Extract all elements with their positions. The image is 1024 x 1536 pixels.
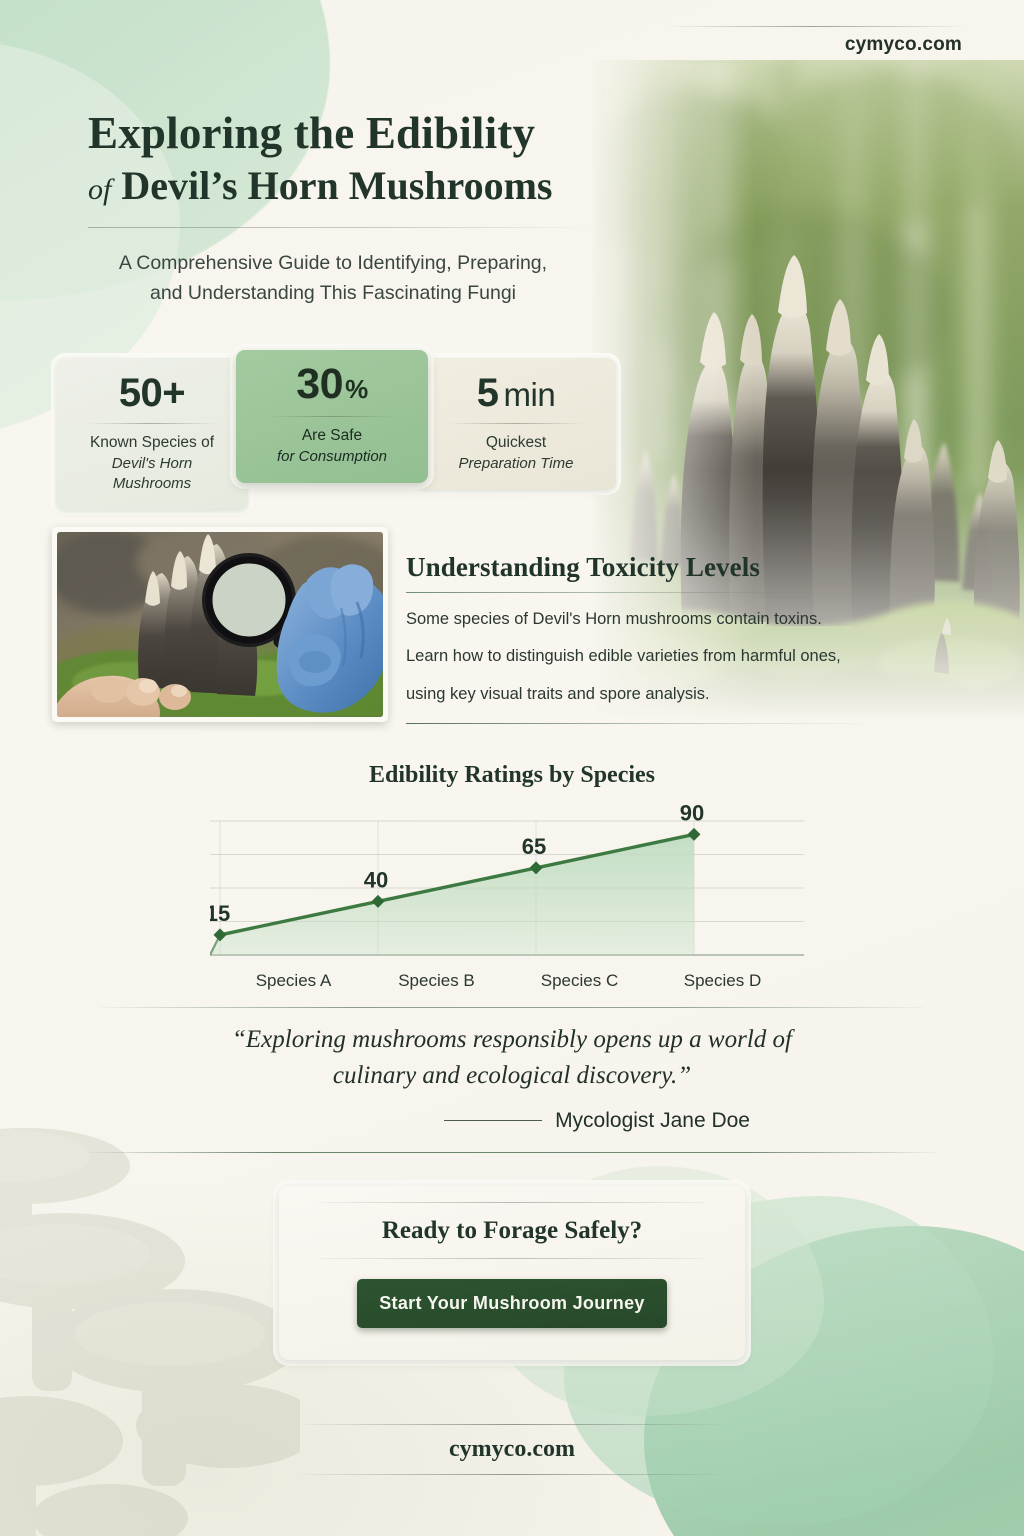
chart-data-label: 40 — [364, 867, 388, 892]
chart-title: Edibility Ratings by Species — [100, 762, 924, 789]
chart-category-label: Species D — [651, 971, 794, 991]
stat-unit-safe: % — [345, 374, 368, 404]
infographic-page: cymyco.com — [0, 0, 1024, 1536]
stat-cards-row: 50+ Known Species of Devil's Horn Mushro… — [56, 350, 616, 510]
toxicity-paragraph-1: Some species of Devil's Horn mushrooms c… — [406, 609, 876, 630]
page-subtitle-line2: and Understanding This Fascinating Fungi — [88, 278, 578, 308]
toxicity-heading: Understanding Toxicity Levels — [406, 552, 876, 583]
chart-area-fill — [220, 834, 694, 955]
stat-label-line2-safe-consumption: for Consumption — [254, 447, 410, 467]
chart-section-divider — [100, 1007, 924, 1008]
title-divider — [88, 227, 593, 228]
chart-category-label: Species C — [508, 971, 651, 991]
chart-plot-area: 15406590 — [100, 805, 924, 965]
toxicity-heading-divider — [406, 592, 858, 593]
title-block: Exploring the Edibility of Devil’s Horn … — [88, 110, 608, 309]
footer-rule-bottom — [300, 1474, 724, 1475]
stat-value-safe-consumption: 30% — [254, 362, 410, 407]
stat-card-known-species[interactable]: 50+ Known Species of Devil's Horn Mushro… — [56, 358, 248, 510]
quote-block: “Exploring mushrooms responsibly opens u… — [112, 1022, 912, 1133]
toxicity-body: Some species of Devil's Horn mushrooms c… — [406, 609, 876, 705]
stat-label-line2-known-species: Devil's Horn Mushrooms — [74, 454, 230, 495]
stat-value-known-species: 50+ — [74, 372, 230, 414]
stat-label-line1-prep-time: Quickest — [434, 433, 598, 454]
cta-divider-top — [319, 1202, 705, 1203]
stat-unit-prep: min — [504, 376, 556, 413]
stat-divider — [268, 416, 396, 417]
footer-brand-text: cymyco.com — [300, 1425, 724, 1474]
chart-data-label: 65 — [522, 834, 546, 859]
footer-brand: cymyco.com — [300, 1424, 724, 1475]
page-title-subject: Devil’s Horn Mushrooms — [121, 163, 552, 208]
toxicity-inspection-image — [52, 527, 388, 722]
stat-number-safe: 30 — [296, 360, 343, 408]
chart-section: Edibility Ratings by Species 15406590 Sp… — [100, 762, 924, 1008]
chart-category-labels: Species ASpecies BSpecies CSpecies D — [100, 971, 924, 991]
chart-data-label: 90 — [680, 805, 704, 825]
stat-number-prep: 5 — [477, 371, 499, 415]
chart-data-label: 15 — [210, 901, 230, 926]
chart-svg: 15406590 — [210, 805, 814, 965]
toxicity-paragraph-2: Learn how to distinguish edible varietie… — [406, 646, 876, 667]
cta-card: Ready to Forage Safely? Start Your Mushr… — [279, 1186, 745, 1360]
quote-text-line1: “Exploring mushrooms responsibly opens u… — [112, 1022, 912, 1058]
header-brand: cymyco.com — [664, 26, 964, 63]
stat-label-line1-safe-consumption: Are Safe — [254, 426, 410, 447]
stat-divider — [448, 423, 584, 424]
quote-attribution-row: Mycologist Jane Doe — [112, 1109, 912, 1133]
toxicity-paragraph-3: using key visual traits and spore analys… — [406, 684, 876, 705]
chart-category-label: Species B — [365, 971, 508, 991]
page-title-line1: Exploring the Edibility — [88, 110, 608, 157]
chart-category-label: Species A — [222, 971, 365, 991]
stat-value-prep-time: 5min — [434, 372, 598, 414]
quote-dash — [444, 1120, 542, 1121]
quote-attribution: Mycologist Jane Doe — [555, 1109, 750, 1133]
header-brand-text: cymyco.com — [664, 27, 964, 62]
quote-text-line2: culinary and ecological discovery.” — [112, 1058, 912, 1094]
stat-card-prep-time[interactable]: 5min Quickest Preparation Time — [416, 358, 616, 490]
start-mushroom-journey-button[interactable]: Start Your Mushroom Journey — [357, 1279, 667, 1328]
stat-card-safe-consumption[interactable]: 30% Are Safe for Consumption — [236, 350, 428, 483]
toxicity-section-divider — [406, 723, 876, 724]
stat-label-line1-known-species: Known Species of — [74, 433, 230, 454]
quote-section-divider — [88, 1152, 936, 1153]
page-title-of: of — [88, 173, 111, 206]
cta-divider-bottom — [319, 1258, 705, 1259]
page-subtitle: A Comprehensive Guide to Identifying, Pr… — [88, 248, 578, 308]
page-title-line2: of Devil’s Horn Mushrooms — [88, 161, 608, 211]
mushroom-watermark-illustration — [0, 1126, 300, 1536]
stat-divider — [88, 423, 216, 424]
toxicity-text-block: Understanding Toxicity Levels Some speci… — [406, 552, 876, 705]
cta-heading: Ready to Forage Safely? — [319, 1217, 705, 1245]
stat-label-line2-prep-time: Preparation Time — [434, 454, 598, 474]
page-subtitle-line1: A Comprehensive Guide to Identifying, Pr… — [88, 248, 578, 278]
